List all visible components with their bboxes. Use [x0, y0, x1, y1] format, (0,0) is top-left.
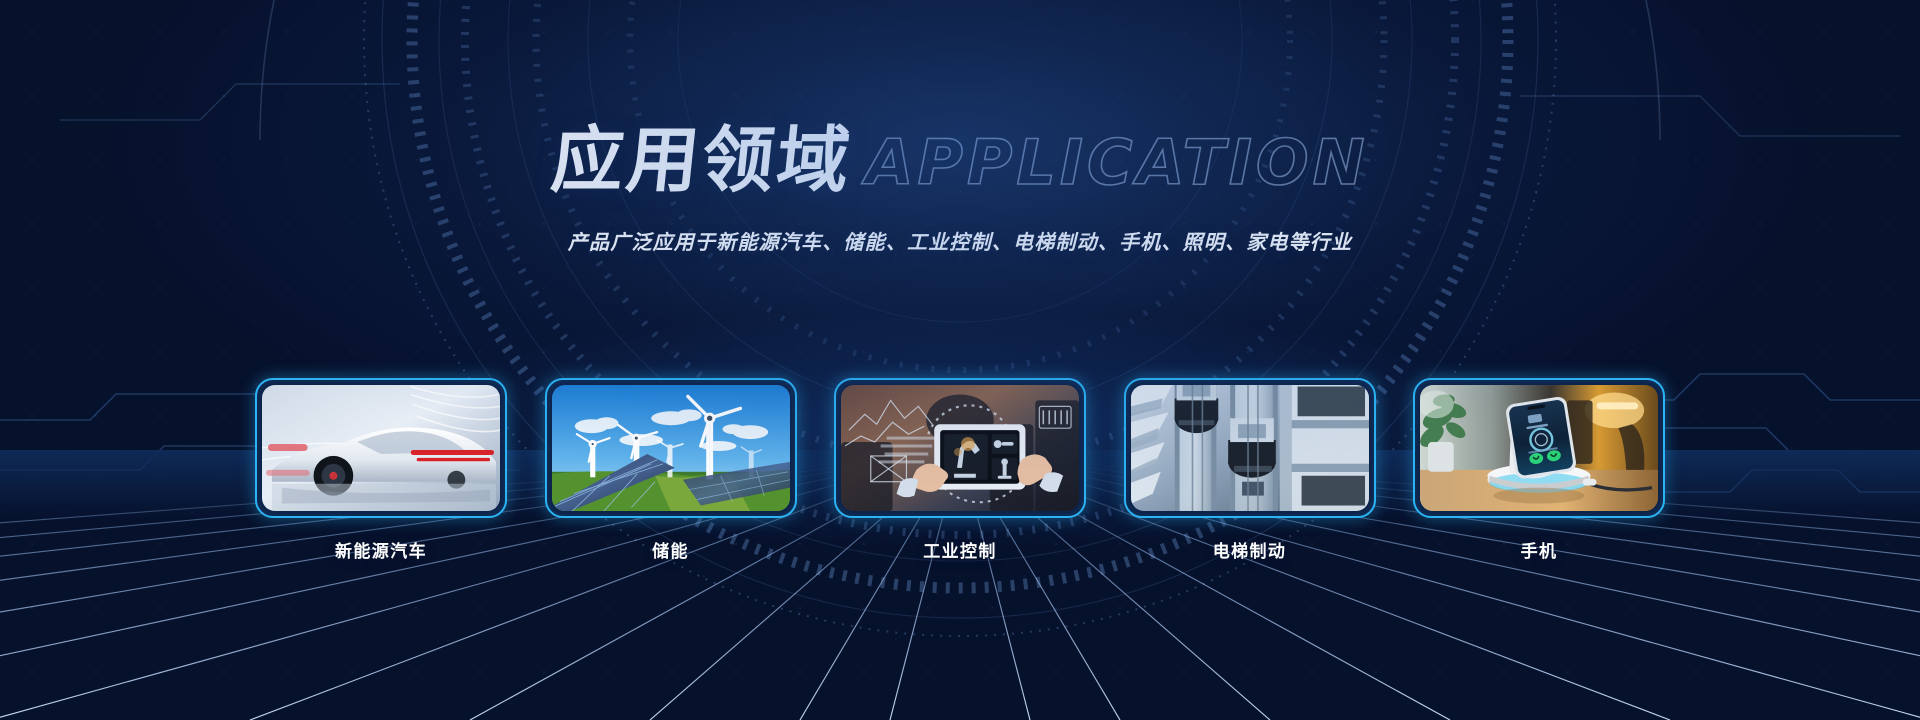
solar-wind-farm-image [552, 385, 790, 511]
application-card-list: 新能源汽车 [255, 378, 1665, 562]
banner-content: 应用领域 APPLICATION 产品广泛应用于新能源汽车、储能、工业控制、电梯… [0, 0, 1920, 720]
card-frame[interactable] [255, 378, 507, 518]
application-card[interactable]: 手机 [1413, 378, 1665, 562]
banner-stage: 应用领域 APPLICATION 产品广泛应用于新能源汽车、储能、工业控制、电梯… [0, 0, 1920, 720]
application-card[interactable]: 电梯制动 [1124, 378, 1376, 562]
card-frame[interactable] [1124, 378, 1376, 518]
page-title: 应用领域 [548, 124, 856, 196]
sports-car-image [262, 385, 500, 511]
application-card[interactable]: 新能源汽车 [255, 378, 507, 562]
card-frame[interactable] [1413, 378, 1665, 518]
banner-subtitle: 产品广泛应用于新能源汽车、储能、工业控制、电梯制动、手机、照明、家电等行业 [0, 226, 1920, 255]
elevator-shaft-image [1131, 385, 1369, 511]
card-frame[interactable] [834, 378, 1086, 518]
card-frame[interactable] [545, 378, 797, 518]
card-label: 新能源汽车 [255, 537, 507, 562]
card-label: 手机 [1413, 537, 1665, 562]
phone-wireless-charger-image [1420, 385, 1658, 511]
page-title-english: APPLICATION [866, 132, 1369, 196]
banner-heading: 应用领域 APPLICATION [0, 124, 1920, 196]
card-label: 电梯制动 [1124, 537, 1376, 562]
application-card[interactable]: 工业控制 [834, 378, 1086, 562]
application-card[interactable]: 储能 [545, 378, 797, 562]
card-label: 工业控制 [834, 537, 1086, 562]
industrial-control-tablet-image [841, 385, 1079, 511]
card-label: 储能 [545, 537, 797, 562]
